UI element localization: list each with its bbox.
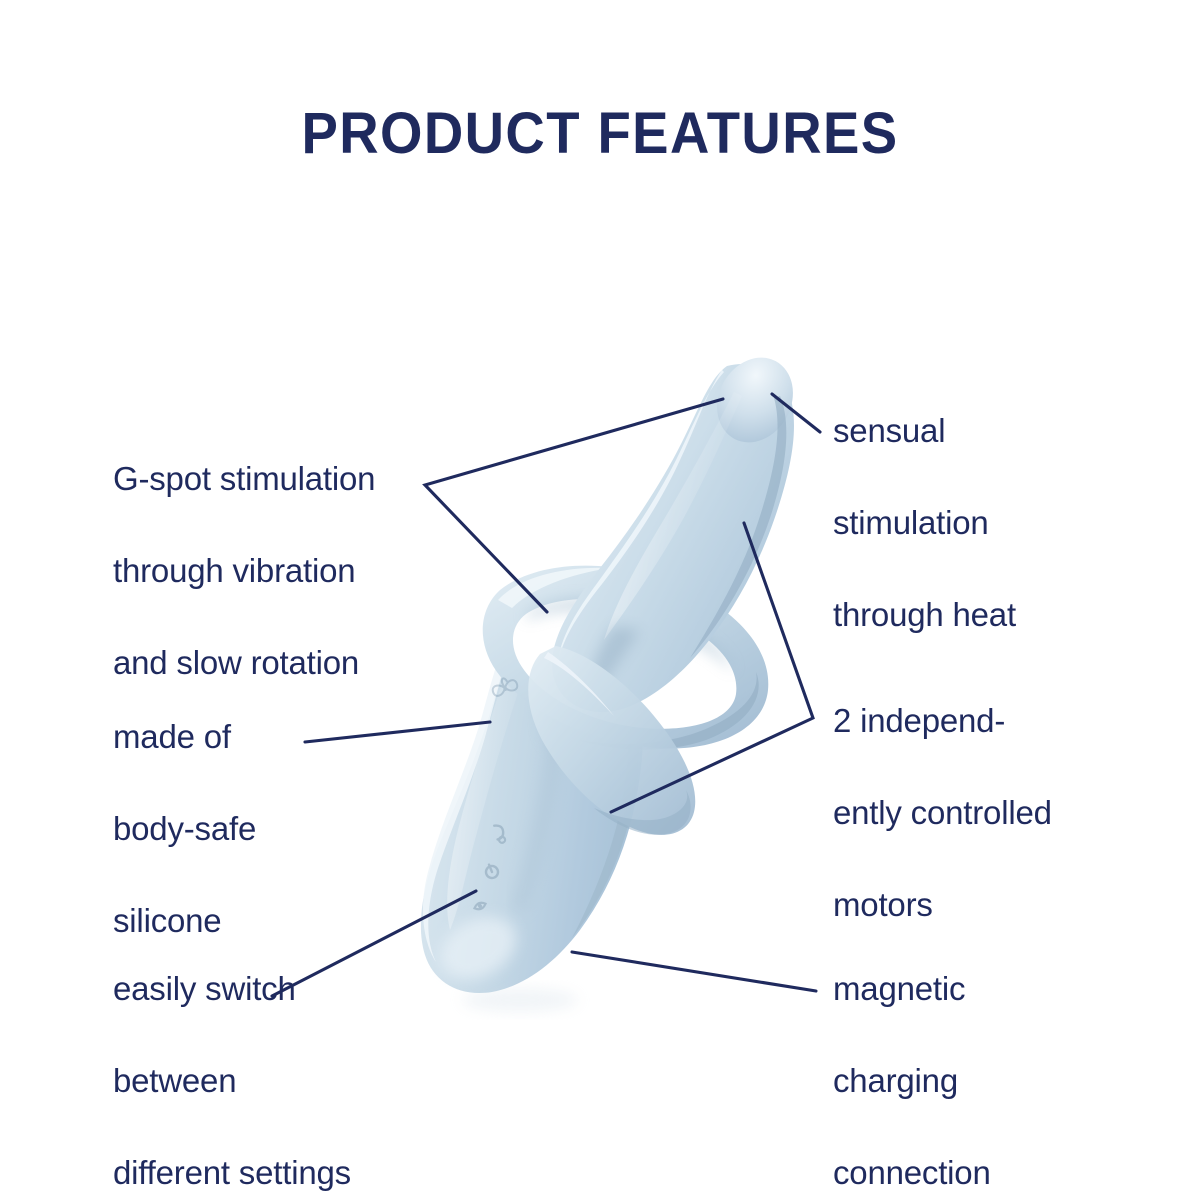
product-features-infographic: PRODUCT FEATURES — [0, 0, 1200, 1200]
leader-line-gspot — [425, 399, 723, 612]
leader-line-motors — [611, 523, 813, 812]
leader-line-switch — [272, 891, 476, 996]
leader-lines — [0, 0, 1200, 1200]
leader-line-sensual — [772, 394, 820, 432]
leader-line-bodysafe — [305, 722, 490, 742]
leader-line-magnetic — [572, 952, 816, 991]
